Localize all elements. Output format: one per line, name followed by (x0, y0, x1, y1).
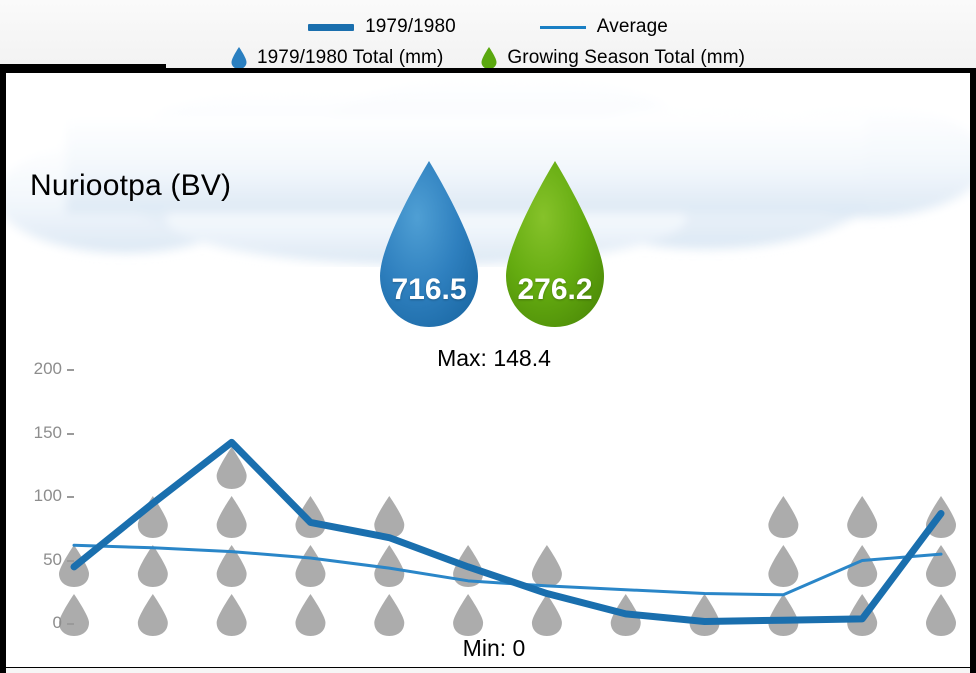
water-drop-icon (481, 47, 497, 69)
rain-drop-marker (453, 594, 483, 636)
y-axis-tick-label: 150 (16, 423, 62, 443)
annual-total-value: 716.5 (377, 273, 481, 307)
rain-drop-marker (768, 594, 798, 636)
rain-drop-marker (768, 496, 798, 538)
thick-line-swatch-icon (308, 24, 354, 31)
rain-drop-marker (926, 545, 956, 587)
growing-season-total-droplet[interactable]: 276.2 (503, 159, 607, 334)
y-axis-tick-mark (67, 560, 74, 562)
rain-drop-marker (374, 496, 404, 538)
y-axis-tick-mark (67, 496, 74, 498)
rain-drop-marker (532, 545, 562, 587)
legend-label-series: 1979/1980 (365, 16, 456, 38)
y-axis: 050100150200 (12, 352, 74, 637)
y-axis-tick-label: 50 (16, 550, 62, 570)
legend-item-growing-season-total[interactable]: Growing Season Total (mm) (481, 47, 745, 69)
legend-item-annual-total[interactable]: 1979/1980 Total (mm) (231, 47, 443, 69)
rain-drop-marker (532, 594, 562, 636)
rain-drop-marker (926, 594, 956, 636)
rain-drop-marker (217, 594, 247, 636)
page-title: Nuriootpa (BV) (30, 169, 231, 203)
season-1979-1980-series-line (74, 442, 941, 621)
rain-drop-marker (217, 496, 247, 538)
legend-label-annual-total: 1979/1980 Total (mm) (257, 47, 443, 69)
legend-label-growing-season-total: Growing Season Total (mm) (507, 47, 745, 69)
rain-drop-marker (690, 594, 720, 636)
average-series-line (74, 545, 941, 595)
legend-label-average: Average (597, 16, 668, 38)
y-axis-tick-mark (67, 623, 74, 625)
rain-drop-marker (295, 594, 325, 636)
legend-item-series-1979-1980[interactable]: 1979/1980 (308, 16, 456, 38)
rain-drop-marker (138, 594, 168, 636)
y-axis-tick-label: 0 (16, 613, 62, 633)
growing-season-total-value: 276.2 (503, 273, 607, 307)
rain-drop-marker (768, 545, 798, 587)
chart-legend: 1979/1980 Average 1979/1980 Total (mm) G… (0, 0, 976, 72)
rainfall-chart-panel: 050100150200 Nuriootpa (BV) 716.5 (0, 68, 976, 668)
rain-drop-marker (847, 496, 877, 538)
y-axis-tick-mark (67, 433, 74, 435)
max-annotation: Max: 148.4 (6, 345, 970, 372)
rainfall-line-chart (6, 352, 970, 637)
legend-row-primary: 1979/1980 Average (0, 15, 976, 39)
y-axis-tick-label: 100 (16, 486, 62, 506)
rain-drop-marker (295, 496, 325, 538)
rain-drop-marker (374, 594, 404, 636)
panel-content: 050100150200 Nuriootpa (BV) 716.5 (6, 77, 970, 667)
rain-drop-marker (295, 545, 325, 587)
annual-total-droplet[interactable]: 716.5 (377, 159, 481, 334)
water-drop-icon (231, 47, 247, 69)
min-annotation: Min: 0 (6, 635, 970, 662)
legend-item-average[interactable]: Average (540, 16, 668, 38)
panel-border-right (970, 73, 976, 673)
rain-drop-marker (138, 545, 168, 587)
thin-line-swatch-icon (540, 26, 586, 29)
